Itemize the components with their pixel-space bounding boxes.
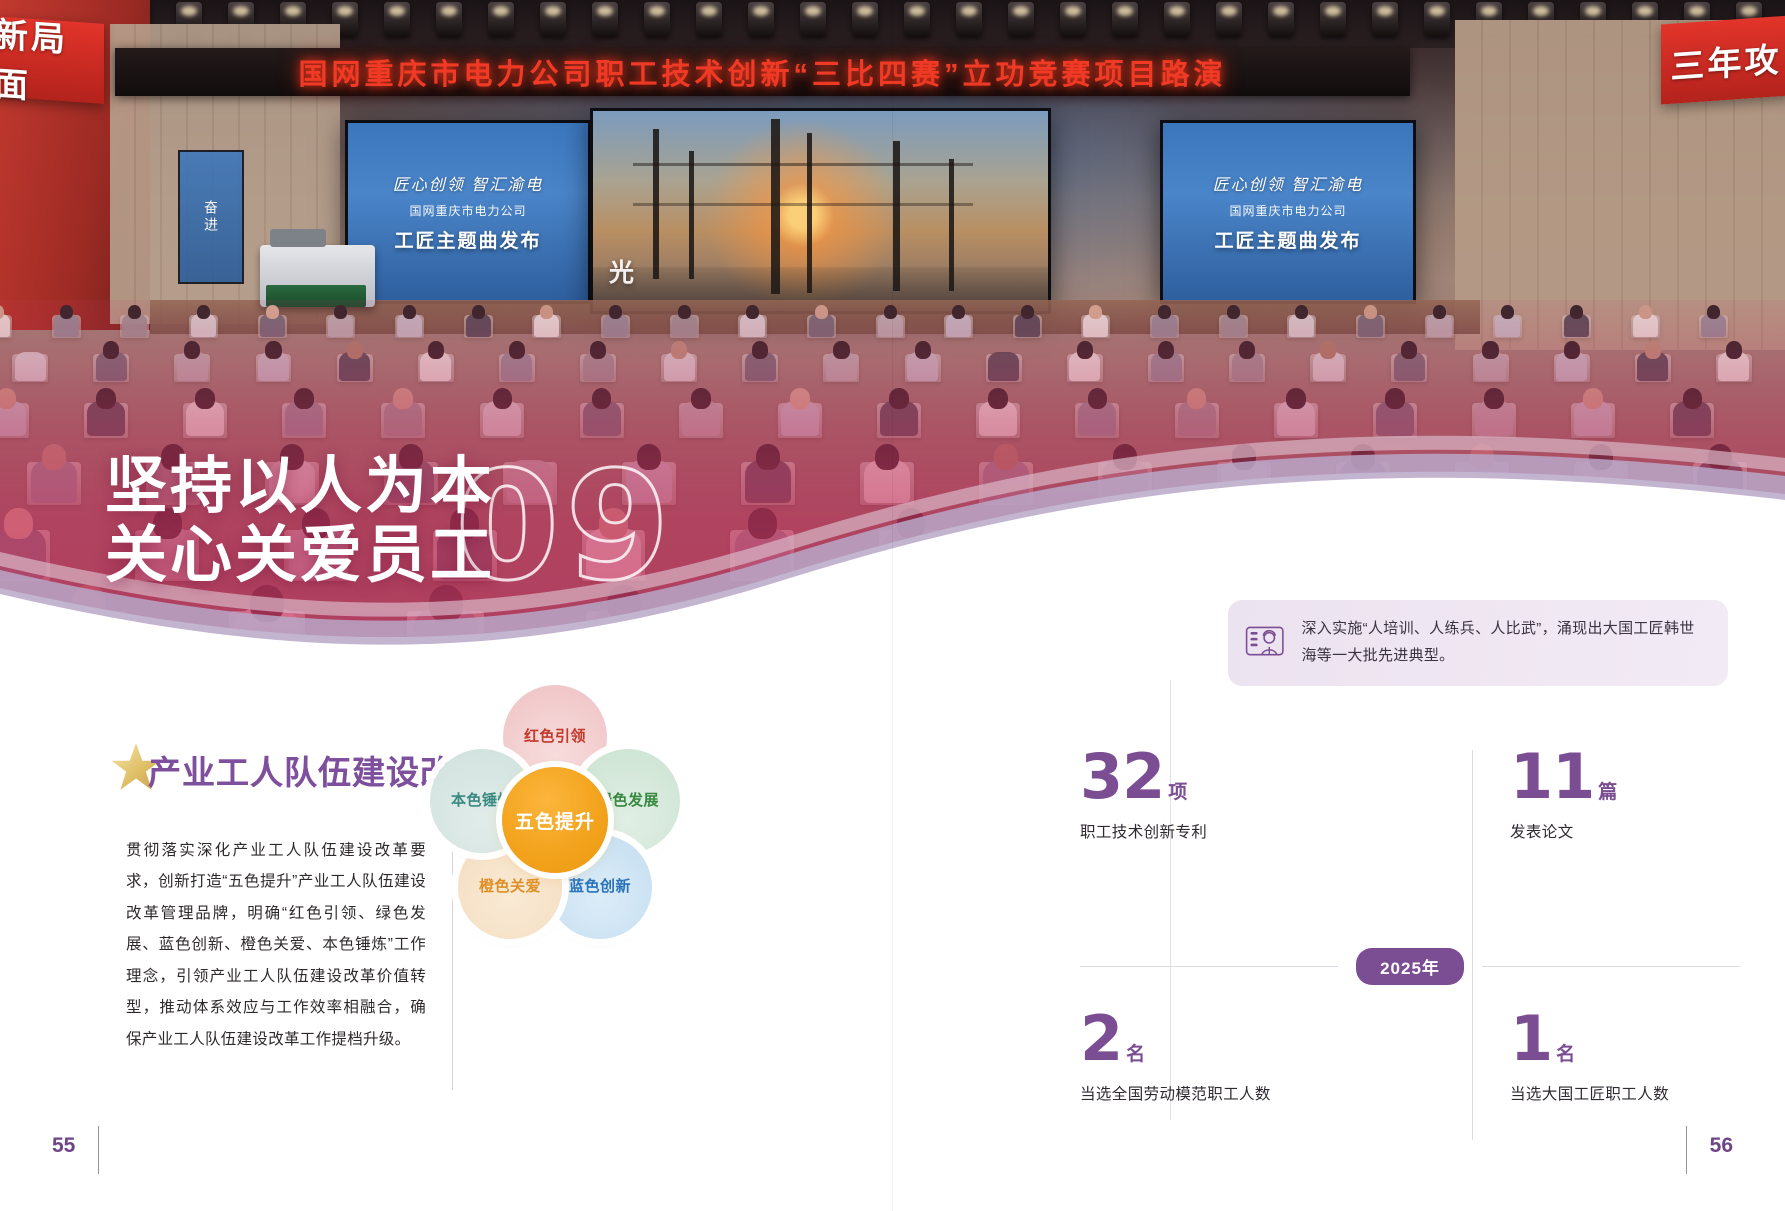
year-badge: 2025年	[1356, 948, 1464, 985]
stage-light	[436, 2, 462, 36]
magazine-spread: 新局面 三年攻 国网重庆市电力公司职工技术创新“三比四赛”立功竞赛项目路演 奋进…	[0, 0, 1785, 1211]
stage-light	[696, 2, 722, 36]
footer-rule-right	[1686, 1126, 1687, 1174]
stage-light	[1060, 2, 1086, 36]
stat-number: 11	[1510, 740, 1594, 813]
side-banner-left: 新局面	[0, 16, 104, 104]
diagram-core: 五色提升	[502, 767, 608, 873]
year-divider-row: 2025年	[1080, 948, 1740, 985]
callout-box: 深入实施“人培训、人练兵、人比武”，涌现出大国工匠韩世海等一大批先进典型。	[1228, 600, 1728, 686]
stage-light	[748, 2, 774, 36]
led-screen-center: 光	[590, 108, 1051, 314]
training-screen-icon	[1244, 615, 1285, 671]
footer-rule-left	[98, 1126, 99, 1174]
stat-number: 2	[1080, 1002, 1122, 1075]
stage-light	[1424, 2, 1450, 36]
five-color-diagram: 红色引领 绿色发展 蓝色创新 橙色关爱 本色锤炼 五色提升	[430, 685, 680, 965]
led-left-line1: 匠心创领 智汇渝电	[393, 171, 543, 195]
stage-light	[1164, 2, 1190, 36]
led-right-line2: 国网重庆市电力公司	[1229, 202, 1346, 219]
petal-label-line: 引领	[555, 728, 586, 747]
petal-label-line: 发展	[628, 792, 659, 811]
stat-caption: 职工技术创新专利	[1080, 820, 1380, 842]
stage-light	[1320, 2, 1346, 36]
led-left-line2: 国网重庆市电力公司	[409, 202, 526, 219]
stage-light	[852, 2, 878, 36]
stat-caption: 发表论文	[1510, 820, 1785, 842]
petal-label-line: 本色	[451, 792, 482, 811]
stat-unit: 项	[1168, 782, 1187, 803]
stage-light	[800, 2, 826, 36]
stage-light	[488, 2, 514, 36]
side-banner-right: 三年攻	[1661, 15, 1785, 104]
section-paragraph: 贯彻落实深化产业工人队伍建设改革要求，创新打造“五色提升”产业工人队伍建设改革管…	[126, 835, 426, 1055]
petal-label-line: 红色	[524, 728, 555, 747]
petal-label-line: 橙色	[479, 878, 510, 897]
exhibit-equipment	[260, 245, 375, 307]
stat-card: 11篇 发表论文	[1510, 746, 1785, 842]
stat-unit: 名	[1556, 1044, 1575, 1065]
stage-light	[1372, 2, 1398, 36]
headline-line-1: 坚持以人为本	[105, 452, 495, 521]
petal-label-line: 创新	[600, 878, 631, 897]
stage-light	[956, 2, 982, 36]
stage-light	[540, 2, 566, 36]
stage-light	[592, 2, 618, 36]
led-screen-right: 匠心创领 智汇渝电 国网重庆市电力公司 工匠主题曲发布	[1160, 120, 1416, 304]
stat-card: 1名 当选大国工匠职工人数	[1510, 1008, 1785, 1104]
stat-unit: 名	[1126, 1044, 1145, 1065]
stage-light	[1008, 2, 1034, 36]
hero-headline: 坚持以人为本 关心关爱员工	[105, 452, 495, 591]
led-screen-left: 匠心创领 智汇渝电 国网重庆市电力公司 工匠主题曲发布	[345, 120, 591, 304]
far-left-screen: 奋进	[178, 150, 244, 284]
stat-card: 2名 当选全国劳动模范职工人数	[1080, 1008, 1380, 1104]
page-number-right: 56	[1710, 1134, 1733, 1158]
led-left-line3: 工匠主题曲发布	[394, 226, 541, 253]
year-line-right	[1482, 966, 1740, 967]
stat-number: 32	[1080, 740, 1164, 813]
stats-vertical-divider	[1472, 750, 1473, 1140]
stage-banner: 国网重庆市电力公司职工技术创新“三比四赛”立功竞赛项目路演	[115, 48, 1410, 96]
page-number-left: 55	[52, 1134, 75, 1158]
stage-light	[904, 2, 930, 36]
year-line-left	[1080, 966, 1338, 967]
stat-caption: 当选全国劳动模范职工人数	[1080, 1082, 1380, 1104]
petal-label-line: 关爱	[510, 878, 541, 897]
stat-card: 32项 职工技术创新专利	[1080, 746, 1380, 842]
led-center-text: 光	[609, 253, 634, 289]
led-right-line1: 匠心创领 智汇渝电	[1213, 171, 1363, 195]
page-gutter	[892, 0, 893, 1211]
stat-number: 1	[1510, 1002, 1552, 1075]
callout-text: 深入实施“人培训、人练兵、人比武”，涌现出大国工匠韩世海等一大批先进典型。	[1301, 616, 1706, 669]
stage-light	[644, 2, 670, 36]
stage-light	[1268, 2, 1294, 36]
stage-light	[384, 2, 410, 36]
headline-line-2: 关心关爱员工	[105, 521, 495, 590]
stat-caption: 当选大国工匠职工人数	[1510, 1082, 1785, 1104]
led-right-line3: 工匠主题曲发布	[1214, 226, 1361, 253]
petal-label-line: 蓝色	[569, 878, 600, 897]
stage-banner-text: 国网重庆市电力公司职工技术创新“三比四赛”立功竞赛项目路演	[298, 51, 1226, 93]
stage-light	[1112, 2, 1138, 36]
stat-unit: 篇	[1598, 782, 1617, 803]
stage-light	[1216, 2, 1242, 36]
